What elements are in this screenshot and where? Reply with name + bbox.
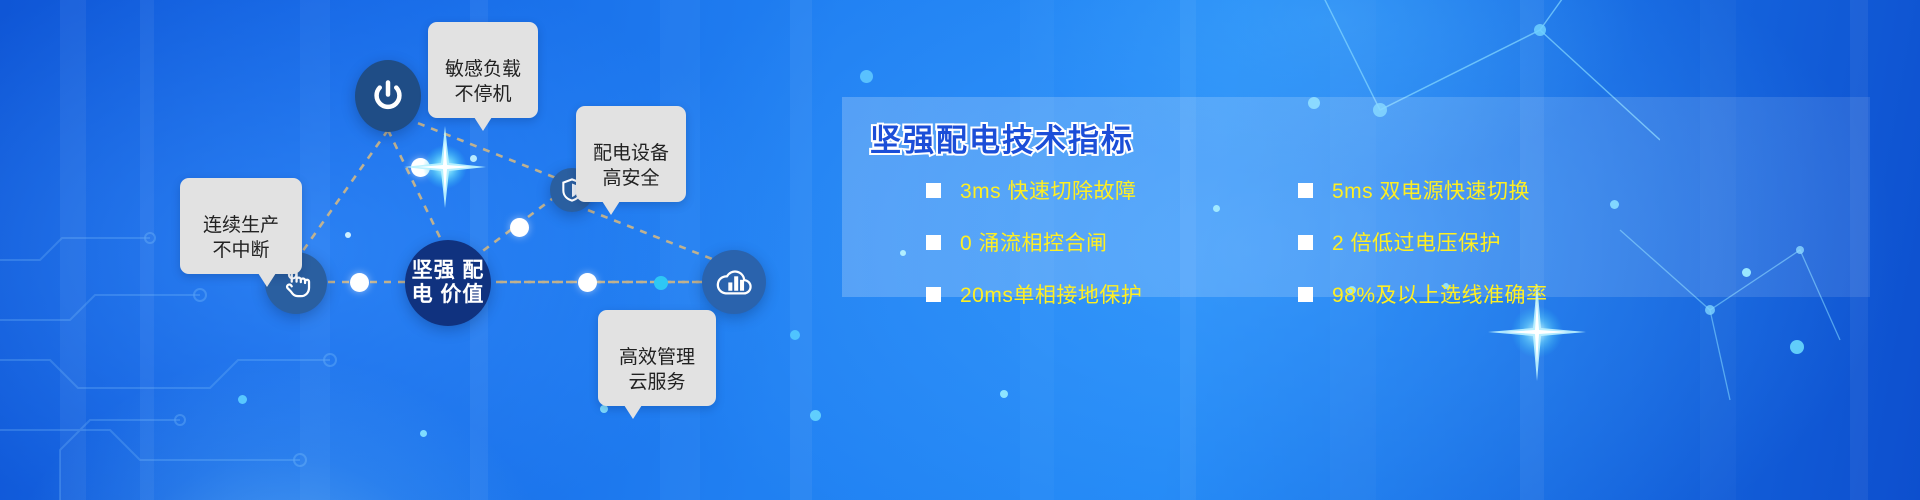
spec-item: 0 涌流相控合闸 [926,227,1298,257]
spec-text: 2 倍低过电压保护 [1332,227,1501,257]
link-node-dot [578,273,597,292]
particle [1790,340,1804,354]
spec-item: 3ms 快速切除故障 [926,175,1298,205]
spec-grid: 3ms 快速切除故障 5ms 双电源快速切换 0 涌流相控合闸 2 倍低过电压保… [926,175,1850,309]
callout-distribution-safety[interactable]: 配电设备 高安全 [576,106,686,202]
panel-title: 坚强配电技术指标 [870,115,1134,160]
spec-text: 20ms单相接地保护 [960,279,1142,309]
link-node-dot [350,273,369,292]
bullet-square-icon [926,183,941,198]
spec-text: 5ms 双电源快速切换 [1332,175,1530,205]
power-button-icon [370,78,406,114]
link-node-dot [411,158,430,177]
callout-sensitive-load[interactable]: 敏感负载 不停机 [428,22,538,118]
banner-stage: 坚强 配电 价值 敏感负载 不停机 配电设备 高安全 连续生产 不中断 高效管理… [0,0,1920,500]
link-node-dot-accent [654,276,668,290]
particle [1000,390,1008,398]
center-node[interactable]: 坚强 配电 价值 [405,240,491,326]
node-power[interactable] [355,60,421,132]
bullet-square-icon [1298,183,1313,198]
callout-text: 连续生产 不中断 [203,215,279,261]
spec-text: 3ms 快速切除故障 [960,175,1137,205]
callout-text: 高效管理 云服务 [619,347,695,393]
value-network-diagram: 坚强 配电 价值 敏感负载 不停机 配电设备 高安全 连续生产 不中断 高效管理… [0,0,900,500]
callout-cloud-management[interactable]: 高效管理 云服务 [598,310,716,406]
callout-text: 配电设备 高安全 [593,143,669,189]
tech-spec-panel: 坚强配电技术指标 3ms 快速切除故障 5ms 双电源快速切换 0 涌流相控合闸… [842,97,1870,297]
bullet-square-icon [926,235,941,250]
spec-text: 0 涌流相控合闸 [960,227,1108,257]
node-cloud-chart[interactable] [702,250,766,314]
bullet-square-icon [1298,235,1313,250]
bullet-square-icon [1298,287,1313,302]
spec-item: 98%及以上选线准确率 [1298,279,1850,309]
cloud-bar-chart-icon [713,261,755,303]
link-node-dot [510,218,529,237]
callout-text: 敏感负载 不停机 [445,59,521,105]
callout-continuous-production[interactable]: 连续生产 不中断 [180,178,302,274]
center-node-label: 坚强 配电 价值 [405,259,491,306]
spec-item: 20ms单相接地保护 [926,279,1298,309]
spec-item: 2 倍低过电压保护 [1298,227,1850,257]
spec-item: 5ms 双电源快速切换 [1298,175,1850,205]
spec-text: 98%及以上选线准确率 [1332,279,1548,309]
bullet-square-icon [926,287,941,302]
